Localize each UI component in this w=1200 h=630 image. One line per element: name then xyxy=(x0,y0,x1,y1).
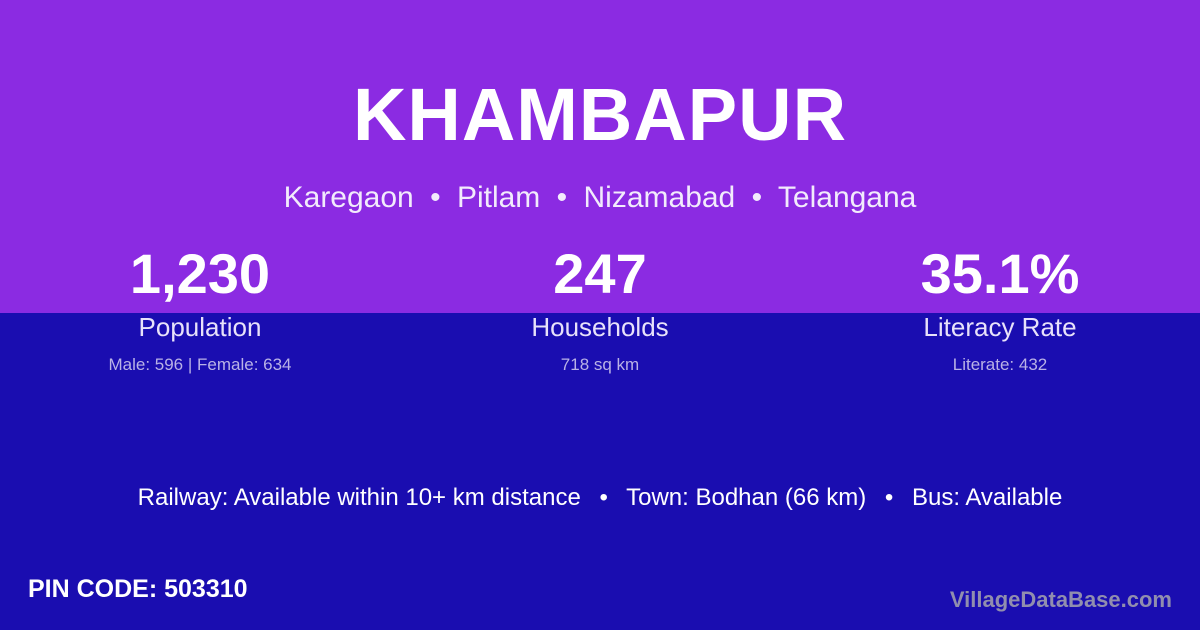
stat-literacy-rate: 35.1% Literacy Rate Literate: 432 xyxy=(800,243,1200,375)
stat-label: Households xyxy=(400,312,800,343)
stats-row: 1,230 Population Male: 596 | Female: 634… xyxy=(0,243,1200,375)
infrastructure-bus: Bus: Available xyxy=(912,484,1062,511)
breadcrumb-item-state: Telangana xyxy=(778,181,916,214)
village-info-card: KHAMBAPUR Karegaon • Pitlam • Nizamabad … xyxy=(0,0,1200,630)
site-brand: VillageDataBase.com xyxy=(950,587,1172,613)
stat-sub: Male: 596 | Female: 634 xyxy=(0,355,400,375)
breadcrumb-separator: • xyxy=(549,181,576,214)
stat-sub: 718 sq km xyxy=(400,355,800,375)
stat-value: 1,230 xyxy=(0,243,400,306)
breadcrumb-item-district: Nizamabad xyxy=(584,181,736,214)
infrastructure-separator: • xyxy=(873,484,905,511)
page-title: KHAMBAPUR xyxy=(0,78,1200,152)
stat-label: Literacy Rate xyxy=(800,312,1200,343)
stat-population: 1,230 Population Male: 596 | Female: 634 xyxy=(0,243,400,375)
breadcrumb-item-mandal: Pitlam xyxy=(457,181,540,214)
infrastructure-town: Town: Bodhan (66 km) xyxy=(626,484,866,511)
stat-value: 35.1% xyxy=(800,243,1200,306)
breadcrumb-separator: • xyxy=(744,181,771,214)
stat-households: 247 Households 718 sq km xyxy=(400,243,800,375)
stat-label: Population xyxy=(0,312,400,343)
breadcrumb: Karegaon • Pitlam • Nizamabad • Telangan… xyxy=(0,181,1200,216)
stat-sub: Literate: 432 xyxy=(800,355,1200,375)
infrastructure-separator: • xyxy=(587,484,619,511)
breadcrumb-item-village: Karegaon xyxy=(284,181,414,214)
infrastructure-railway: Railway: Available within 10+ km distanc… xyxy=(138,484,581,511)
infrastructure-line: Railway: Available within 10+ km distanc… xyxy=(0,484,1200,513)
pin-code: PIN CODE: 503310 xyxy=(28,574,248,604)
stat-value: 247 xyxy=(400,243,800,306)
breadcrumb-separator: • xyxy=(422,181,449,214)
